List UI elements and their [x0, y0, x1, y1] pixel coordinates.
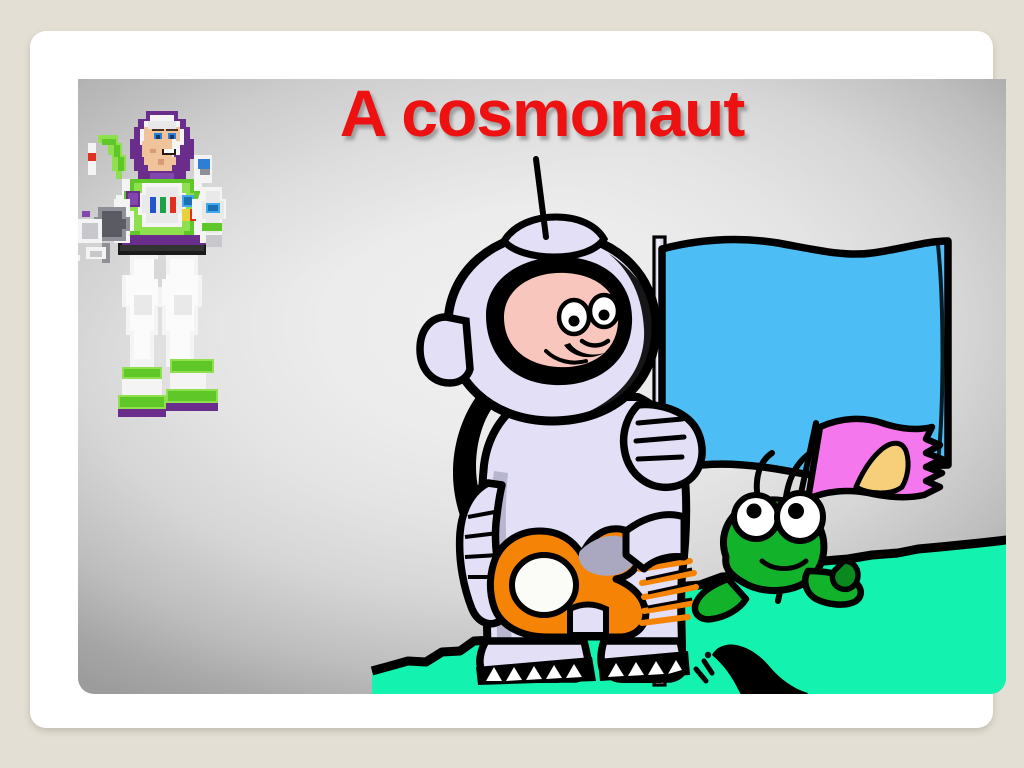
cosmonaut-scene: [308, 165, 1006, 694]
slide-content-panel: A cosmonaut: [78, 79, 1006, 694]
slide-card: A cosmonaut: [30, 31, 993, 728]
small-pink-flag: [808, 419, 942, 499]
buzz-lightyear-pixel-sprite: [78, 87, 282, 427]
slide-stage: A cosmonaut: [0, 0, 1024, 768]
gloved-fist: [624, 405, 702, 488]
